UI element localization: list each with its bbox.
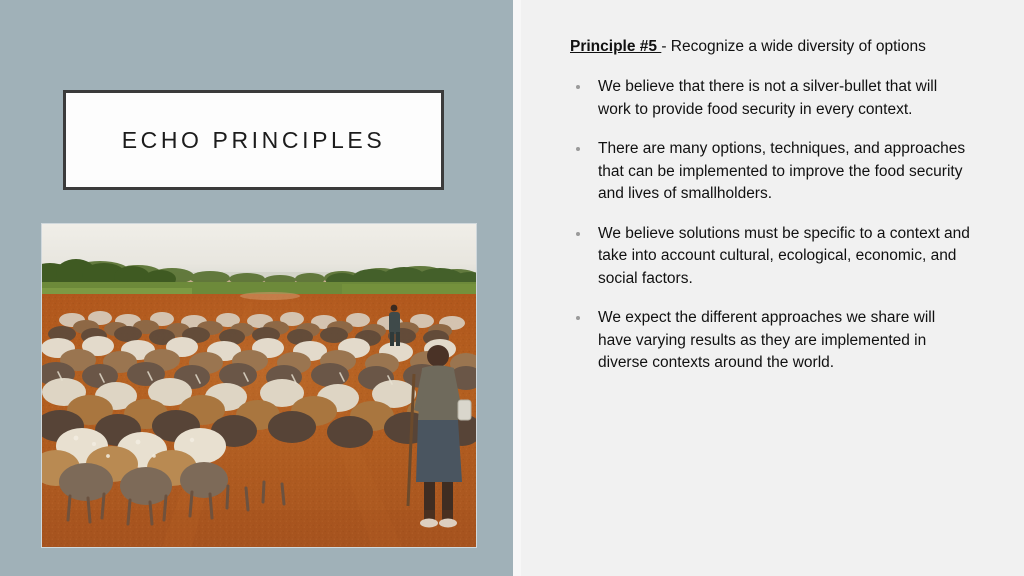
content-panel: Principle #5 - Recognize a wide diversit… — [570, 36, 970, 375]
list-item: We expect the different approaches we sh… — [570, 307, 970, 375]
list-item: There are many options, techniques, and … — [570, 138, 970, 206]
principle-heading: Principle #5 - Recognize a wide diversit… — [570, 36, 970, 58]
list-item: We believe solutions must be specific to… — [570, 223, 970, 291]
list-item-text: We believe that there is not a silver-bu… — [598, 78, 937, 118]
herd-photo — [42, 224, 476, 547]
herd-photo-illustration — [42, 224, 476, 547]
panel-seam — [513, 0, 521, 576]
slide: ECHO PRINCIPLES — [0, 0, 1024, 576]
principle-bullet-list: We believe that there is not a silver-bu… — [570, 76, 970, 375]
bullet-dot-icon — [576, 316, 580, 320]
list-item-text: We believe solutions must be specific to… — [598, 225, 970, 287]
bullet-dot-icon — [576, 232, 580, 236]
page-title: ECHO PRINCIPLES — [122, 127, 386, 154]
title-box: ECHO PRINCIPLES — [63, 90, 444, 190]
bullet-dot-icon — [576, 147, 580, 151]
principle-heading-rest: - Recognize a wide diversity of options — [661, 38, 926, 55]
principle-heading-lead: Principle #5 — [570, 38, 661, 55]
list-item-text: We expect the different approaches we sh… — [598, 309, 935, 371]
bullet-dot-icon — [576, 85, 580, 89]
list-item-text: There are many options, techniques, and … — [598, 140, 965, 202]
list-item: We believe that there is not a silver-bu… — [570, 76, 970, 121]
